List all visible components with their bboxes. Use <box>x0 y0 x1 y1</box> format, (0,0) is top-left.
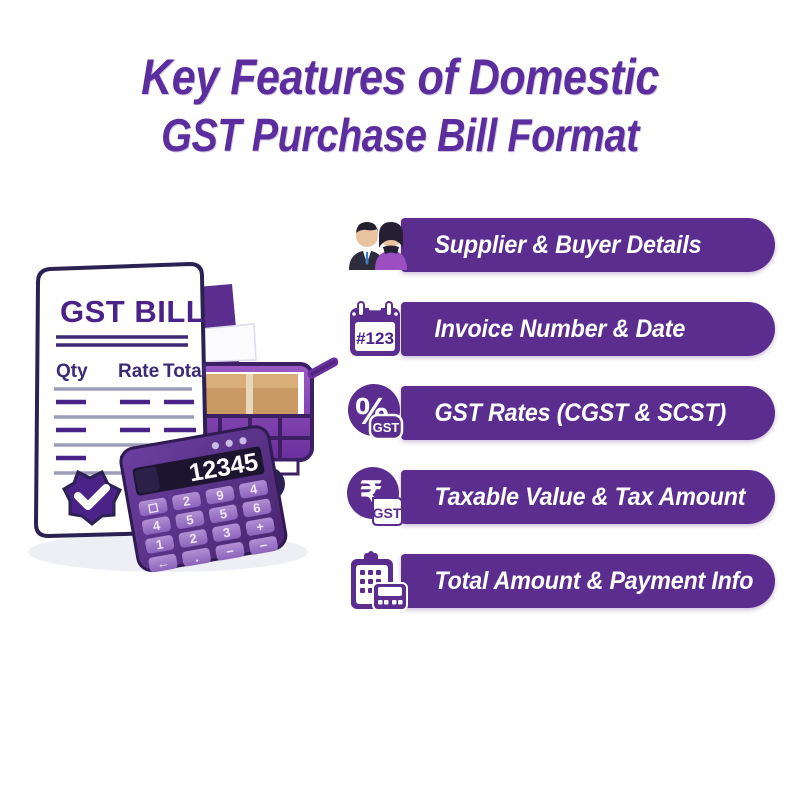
gst-badge-text: GST <box>373 505 402 521</box>
gst-bill-illustration: GST BILL Qty Rate Total <box>18 252 338 592</box>
title-line-2: GST Purchase Bill Format <box>56 112 744 158</box>
feature-item-supplier-buyer[interactable]: Supplier & Buyer Details <box>345 214 775 276</box>
feature-pill[interactable]: Total Amount & Payment Info <box>401 554 775 608</box>
feature-label: Supplier & Buyer Details <box>401 231 701 260</box>
calendar-number: #123 <box>356 329 394 348</box>
title-line-1: Key Features of Domestic <box>56 52 744 102</box>
feature-label: GST Rates (CGST & SCST) <box>401 399 726 428</box>
feature-item-total-payment[interactable]: Total Amount & Payment Info <box>345 550 775 612</box>
feature-item-invoice-number-date[interactable]: Invoice Number & Date #123 <box>345 298 775 360</box>
feature-list: Supplier & Buyer Details Invoice Number … <box>345 214 775 634</box>
feature-pill[interactable]: Taxable Value & Tax Amount <box>401 470 775 524</box>
feature-label: Invoice Number & Date <box>401 315 685 344</box>
feature-item-taxable-value[interactable]: Taxable Value & Tax Amount ₹ GST <box>345 466 775 528</box>
clipboard-payment-icon <box>345 550 409 612</box>
calculator: 12345 ◻ 2 9 4 4 5 5 6 1 2 3 + ← . − − <box>119 425 289 575</box>
document-heading: GST BILL <box>60 294 205 329</box>
column-qty: Qty <box>56 361 88 382</box>
svg-text:←: ← <box>155 555 170 572</box>
column-total: Total <box>163 361 207 382</box>
gst-badge-text: GST <box>373 420 400 435</box>
people-icon <box>345 214 409 276</box>
feature-pill[interactable]: Supplier & Buyer Details <box>401 218 775 272</box>
feature-item-gst-rates[interactable]: GST Rates (CGST & SCST) % GST <box>345 382 775 444</box>
percent-gst-icon: % GST <box>345 382 409 444</box>
feature-label: Taxable Value & Tax Amount <box>401 483 745 512</box>
feature-label: Total Amount & Payment Info <box>401 567 753 596</box>
feature-pill[interactable]: GST Rates (CGST & SCST) <box>401 386 775 440</box>
page-title: Key Features of Domestic GST Purchase Bi… <box>0 52 800 158</box>
calendar-icon: #123 <box>345 298 409 360</box>
feature-pill[interactable]: Invoice Number & Date <box>401 302 775 356</box>
column-rate: Rate <box>118 361 159 382</box>
rupee-gst-icon: ₹ GST <box>345 466 409 528</box>
